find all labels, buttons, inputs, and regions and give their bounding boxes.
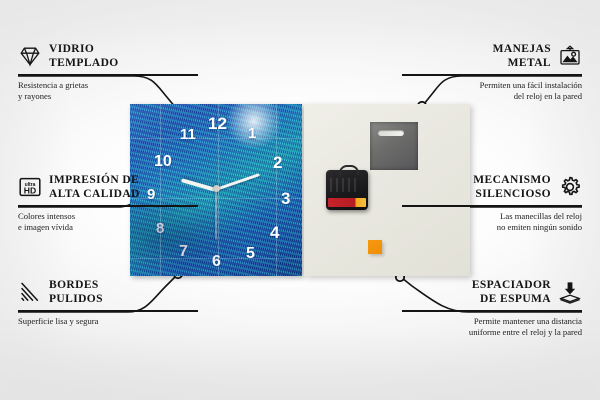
callout-rule xyxy=(402,205,582,207)
callout-mecanismo-silencioso: MECANISMOSILENCIOSO Las manecillas del r… xyxy=(402,173,582,233)
callout-title: BORDESPULIDOS xyxy=(49,278,103,306)
callout-espaciador-espuma: ESPACIADORDE ESPUMA Permite mantener una… xyxy=(402,278,582,338)
callout-description: Superficie lisa y segura xyxy=(18,316,198,327)
minute-hand xyxy=(216,173,260,191)
callout-title: MANEJASMETAL xyxy=(493,42,551,70)
polished-edges-icon xyxy=(18,280,42,304)
callout-rule xyxy=(18,74,198,76)
svg-text:HD: HD xyxy=(24,186,36,196)
quartz-mechanism-box xyxy=(326,170,368,210)
callout-head: VIDRIOTEMPLADO xyxy=(18,42,198,70)
callout-rule xyxy=(18,205,198,207)
numeral-4: 4 xyxy=(270,224,279,241)
mechanism-label-strip xyxy=(328,198,366,207)
numeral-2: 2 xyxy=(273,154,282,171)
numeral-12: 12 xyxy=(208,115,227,132)
callout-head: MANEJASMETAL xyxy=(402,42,582,70)
second-hand xyxy=(216,190,217,240)
callout-description: Las manecillas del relojno emiten ningún… xyxy=(402,211,582,234)
callout-rule xyxy=(402,310,582,312)
callout-manejas-metal: MANEJASMETAL Permiten una fácil instalac… xyxy=(402,42,582,102)
callout-head: MECANISMOSILENCIOSO xyxy=(402,173,582,201)
callout-description: Permite mantener una distanciauniforme e… xyxy=(402,316,582,339)
callout-vidrio-templado: VIDRIOTEMPLADO Resistencia a grietasy ra… xyxy=(18,42,198,102)
callout-impresion-alta-calidad: ultra HD IMPRESIÓN DEALTA CALIDAD Colore… xyxy=(18,173,198,233)
callout-title: VIDRIOTEMPLADO xyxy=(49,42,119,70)
orange-foam-spacer xyxy=(368,240,382,254)
numeral-3: 3 xyxy=(281,190,290,207)
metal-hanger-plate xyxy=(370,122,418,170)
callout-rule xyxy=(402,74,582,76)
callout-rule xyxy=(18,310,198,312)
numeral-7: 7 xyxy=(179,244,188,260)
diamond-icon xyxy=(18,44,42,68)
foam-spacer-icon xyxy=(558,280,582,304)
callout-description: Colores intensose imagen vívida xyxy=(18,211,198,234)
numeral-6: 6 xyxy=(212,254,221,270)
callout-head: ultra HD IMPRESIÓN DEALTA CALIDAD xyxy=(18,173,198,201)
numeral-10: 10 xyxy=(154,154,172,170)
picture-hanger-icon xyxy=(558,44,582,68)
hanger-slot xyxy=(378,130,404,136)
infographic-canvas: 12 1 2 3 4 5 6 7 8 9 10 11 xyxy=(0,0,600,400)
mechanism-loop xyxy=(339,165,359,175)
mechanism-detail xyxy=(330,178,360,192)
callout-description: Resistencia a grietasy rayones xyxy=(18,80,198,103)
callout-description: Permiten una fácil instalacióndel reloj … xyxy=(402,80,582,103)
numeral-1: 1 xyxy=(248,126,256,141)
callout-head: ESPACIADORDE ESPUMA xyxy=(402,278,582,306)
callout-bordes-pulidos: BORDESPULIDOS Superficie lisa y segura xyxy=(18,278,198,327)
callout-head: BORDESPULIDOS xyxy=(18,278,198,306)
callout-title: MECANISMOSILENCIOSO xyxy=(473,173,551,201)
numeral-5: 5 xyxy=(246,246,255,262)
callout-title: IMPRESIÓN DEALTA CALIDAD xyxy=(49,173,140,201)
numeral-11: 11 xyxy=(180,127,196,142)
gear-icon xyxy=(558,175,582,199)
ultra-hd-icon: ultra HD xyxy=(18,175,42,199)
hands-center-cap xyxy=(213,185,220,192)
callout-title: ESPACIADORDE ESPUMA xyxy=(472,278,551,306)
